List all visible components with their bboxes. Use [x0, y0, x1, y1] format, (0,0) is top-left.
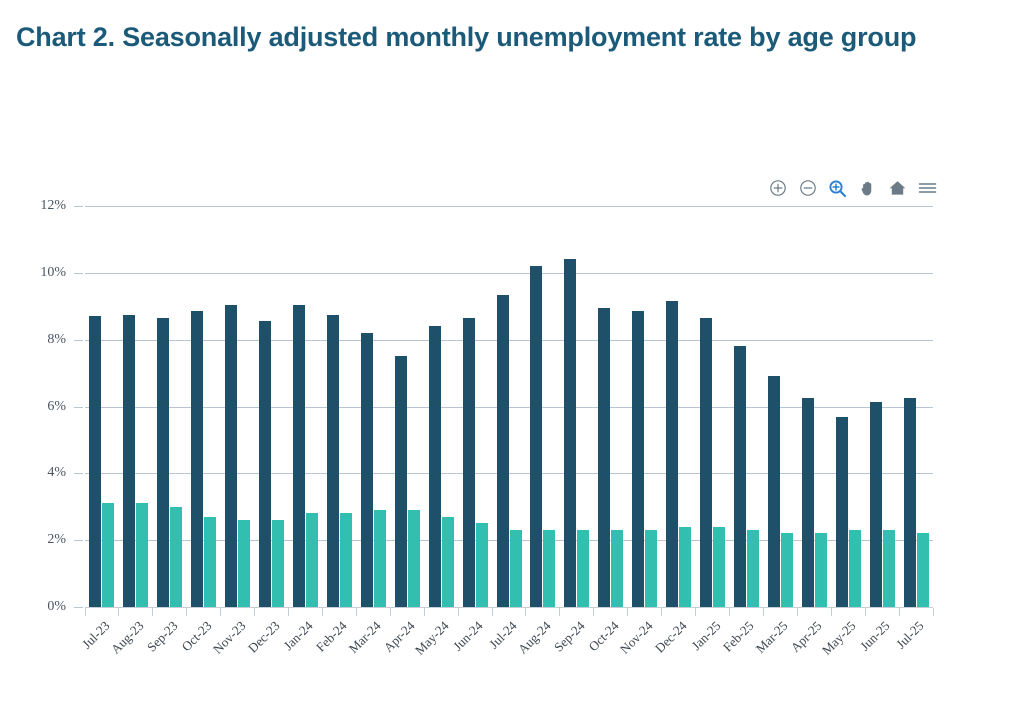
bar[interactable]	[543, 530, 555, 607]
bar[interactable]	[170, 507, 182, 607]
x-axis-label-cell: Nov-24	[628, 616, 662, 686]
y-axis-tick	[74, 206, 83, 207]
bar-group	[628, 206, 662, 607]
y-axis-tick-label: 12%	[40, 198, 66, 214]
bar[interactable]	[679, 527, 691, 607]
bar[interactable]	[306, 513, 318, 607]
y-axis-tick	[74, 340, 83, 341]
bar[interactable]	[136, 503, 148, 607]
bar[interactable]	[632, 311, 644, 607]
bar[interactable]	[204, 517, 216, 607]
bar-group	[899, 206, 933, 607]
y-axis-tick	[74, 473, 83, 474]
bar-group	[424, 206, 458, 607]
bar-group	[356, 206, 390, 607]
chart-title: Chart 2. Seasonally adjusted monthly une…	[16, 22, 966, 54]
x-axis-label-cell: May-25	[831, 616, 865, 686]
bar-group	[662, 206, 696, 607]
bar-group	[526, 206, 560, 607]
bar[interactable]	[713, 527, 725, 607]
hamburger-menu-icon[interactable]	[917, 178, 938, 199]
bar-group	[696, 206, 730, 607]
bar[interactable]	[917, 533, 929, 607]
y-axis-tick	[74, 273, 83, 274]
bar[interactable]	[611, 530, 623, 607]
bar[interactable]	[666, 301, 678, 607]
bar-group	[797, 206, 831, 607]
bar[interactable]	[442, 517, 454, 607]
bar[interactable]	[476, 523, 488, 607]
x-axis-label-cell: Mar-24	[356, 616, 390, 686]
y-axis-tick-label: 10%	[40, 265, 66, 281]
y-axis-tick-label: 2%	[47, 532, 66, 548]
bar-group	[85, 206, 119, 607]
x-axis-labels: Jul-23Aug-23Sep-23Oct-23Nov-23Dec-23Jan-…	[85, 616, 933, 686]
y-axis-tick-label: 0%	[47, 599, 66, 615]
bar[interactable]	[225, 305, 237, 607]
bars-layer	[85, 206, 933, 607]
bar[interactable]	[272, 520, 284, 607]
bar[interactable]	[102, 503, 114, 607]
y-axis-tick-label: 6%	[47, 399, 66, 415]
bar[interactable]	[904, 398, 916, 607]
bar-group	[390, 206, 424, 607]
bar-group	[594, 206, 628, 607]
y-axis-tick	[74, 540, 83, 541]
pan-hand-icon[interactable]	[857, 178, 878, 199]
bar[interactable]	[429, 326, 441, 607]
y-axis-tick	[74, 407, 83, 408]
bar[interactable]	[849, 530, 861, 607]
bar[interactable]	[598, 308, 610, 607]
bar[interactable]	[883, 530, 895, 607]
y-axis-tick	[74, 607, 83, 608]
bar[interactable]	[259, 321, 271, 607]
bar[interactable]	[802, 398, 814, 607]
bar-group	[289, 206, 323, 607]
bar-group	[865, 206, 899, 607]
bar-group	[458, 206, 492, 607]
bar-group	[492, 206, 526, 607]
bar[interactable]	[395, 356, 407, 607]
bar-group	[255, 206, 289, 607]
bar[interactable]	[645, 530, 657, 607]
bar[interactable]	[781, 533, 793, 607]
bar-group	[187, 206, 221, 607]
bar[interactable]	[89, 316, 101, 607]
bar[interactable]	[530, 266, 542, 607]
x-axis-tick-label: Jul-25	[893, 618, 927, 652]
bar[interactable]	[293, 305, 305, 607]
x-axis-label-cell: May-24	[424, 616, 458, 686]
bar[interactable]	[238, 520, 250, 607]
bar[interactable]	[815, 533, 827, 607]
x-axis-label-cell: Jan-25	[696, 616, 730, 686]
bar[interactable]	[123, 315, 135, 607]
zoom-in-icon[interactable]	[767, 178, 788, 199]
bar-group	[322, 206, 356, 607]
x-axis-label-cell: Sep-24	[560, 616, 594, 686]
bar-group	[119, 206, 153, 607]
zoom-out-icon[interactable]	[797, 178, 818, 199]
x-axis-label-cell: Jul-25	[899, 616, 933, 686]
bar[interactable]	[361, 333, 373, 607]
bar[interactable]	[577, 530, 589, 607]
bar[interactable]	[340, 513, 352, 607]
bar[interactable]	[836, 417, 848, 607]
x-axis-label-cell: Jan-24	[289, 616, 323, 686]
bar-group	[831, 206, 865, 607]
x-axis-label-cell: Mar-25	[763, 616, 797, 686]
bar[interactable]	[327, 315, 339, 607]
x-axis-label-cell: Jun-24	[458, 616, 492, 686]
x-axis-label-cell: Nov-23	[221, 616, 255, 686]
plot-area: 0%2%4%6%8%10%12%	[85, 206, 933, 607]
bar[interactable]	[870, 402, 882, 608]
y-axis-tick-label: 4%	[47, 465, 66, 481]
bar-group	[560, 206, 594, 607]
y-axis-tick-label: 8%	[47, 332, 66, 348]
x-axis-label-cell: Aug-24	[526, 616, 560, 686]
bar[interactable]	[497, 295, 509, 607]
chart-toolbar[interactable]	[767, 176, 938, 200]
bar[interactable]	[191, 311, 203, 607]
bar-group	[763, 206, 797, 607]
bar[interactable]	[408, 510, 420, 607]
x-axis-label-cell: Aug-23	[119, 616, 153, 686]
home-icon[interactable]	[887, 178, 908, 199]
bar[interactable]	[734, 346, 746, 607]
bar[interactable]	[768, 376, 780, 607]
bar[interactable]	[564, 259, 576, 607]
bar[interactable]	[374, 510, 386, 607]
bar[interactable]	[747, 530, 759, 607]
bar[interactable]	[700, 318, 712, 607]
x-axis-label-cell: Sep-23	[153, 616, 187, 686]
bar[interactable]	[157, 318, 169, 607]
magnifier-icon[interactable]	[827, 178, 848, 199]
bar-group	[730, 206, 764, 607]
bar-group	[153, 206, 187, 607]
bar-group	[221, 206, 255, 607]
x-axis-label-cell: Dec-23	[255, 616, 289, 686]
x-axis-label-cell: Jun-25	[865, 616, 899, 686]
x-axis-label-cell: Dec-24	[662, 616, 696, 686]
bar[interactable]	[463, 318, 475, 607]
bar[interactable]	[510, 530, 522, 607]
